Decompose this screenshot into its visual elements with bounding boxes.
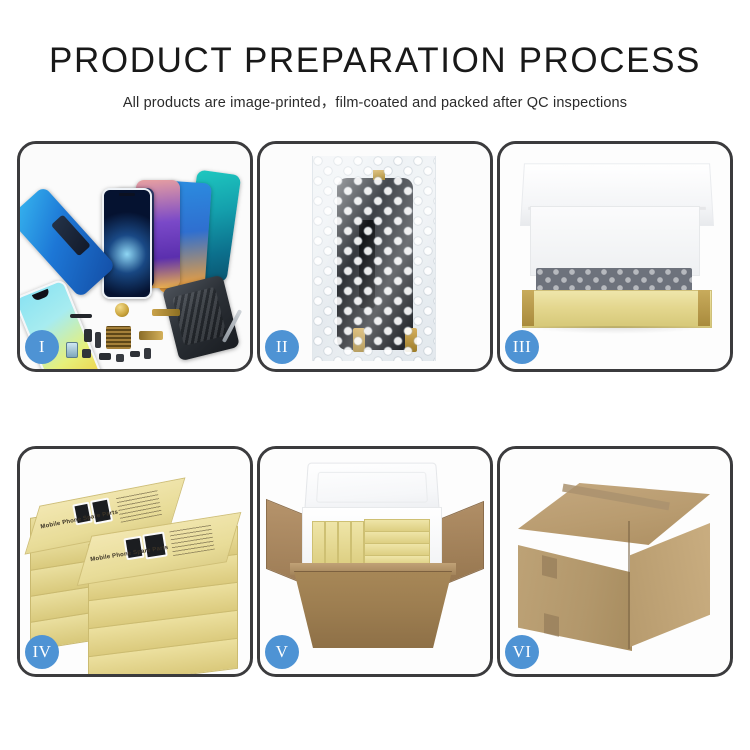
packed-box-3 [338,521,351,565]
spare-part-small-3 [82,349,91,358]
carton-body [294,571,452,648]
spare-part-small-7 [144,348,151,359]
header: PRODUCT PREPARATION PROCESS All products… [0,0,750,112]
page-subtitle: All products are image-printed，film-coat… [0,82,750,112]
step-badge-3: III [505,330,539,364]
box-front-wall [522,290,712,328]
spare-part-small-6 [130,351,140,357]
spare-part-small-1 [84,329,92,342]
step-panel-5[interactable]: V [257,446,493,677]
sealed-carton-handle-top [542,555,557,579]
process-steps-grid: I II [17,141,733,677]
sealed-carton-edge [628,521,630,649]
plastic-sheen [313,156,435,361]
packed-box-1 [312,521,325,565]
spare-part-camera-module [66,342,78,358]
box-left-corner [522,290,534,326]
step-panel-3[interactable]: III [497,141,733,372]
box-foam-liner [530,206,700,276]
step-panel-2[interactable]: II [257,141,493,372]
spare-part-flex-cable-2 [139,331,163,340]
box-stack: Mobile Phone Spare Parts Mobile Phone Sp… [26,473,244,663]
step-badge-1: I [25,330,59,364]
packed-box-4 [351,521,364,565]
box-right-corner [698,290,710,326]
step-panel-1[interactable]: I [17,141,253,372]
spare-part-logic-board [106,326,131,349]
box-shadow [526,326,706,334]
step-badge-4: IV [25,635,59,669]
spare-part-small-2 [95,332,101,348]
phone-front-glass [102,188,152,299]
page-title: PRODUCT PREPARATION PROCESS [0,0,750,82]
step-badge-6: VI [505,635,539,669]
bubble-bag [312,156,436,361]
spare-part-small-5 [116,354,124,362]
foam-box-lid [304,463,440,513]
packed-box-2 [325,521,338,565]
step-panel-6[interactable]: VI [497,446,733,677]
spare-part-small-4 [99,353,111,360]
infographic-page: PRODUCT PREPARATION PROCESS All products… [0,0,750,750]
step-badge-2: II [265,330,299,364]
spare-part-strip [70,314,92,318]
step-panel-4[interactable]: Mobile Phone Spare Parts Mobile Phone Sp… [17,446,253,677]
step-badge-5: V [265,635,299,669]
spare-part-flex-cable-1 [152,309,180,316]
spare-part-coin [115,303,129,317]
sealed-carton-handle-bottom [544,613,559,637]
